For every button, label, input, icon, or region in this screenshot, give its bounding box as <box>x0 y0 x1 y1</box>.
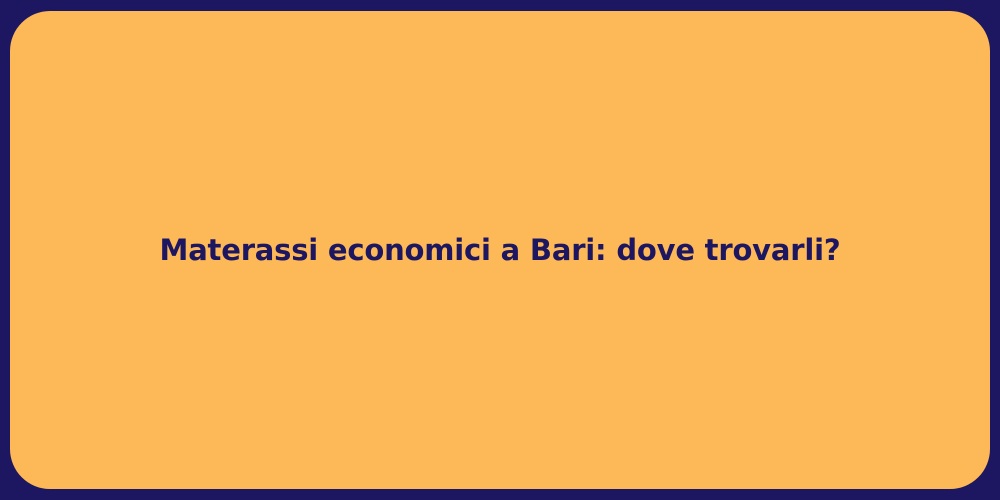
title-card: Materassi economici a Bari: dove trovarl… <box>10 11 990 489</box>
card-title: Materassi economici a Bari: dove trovarl… <box>120 233 881 268</box>
page-background: Materassi economici a Bari: dove trovarl… <box>0 0 1000 500</box>
